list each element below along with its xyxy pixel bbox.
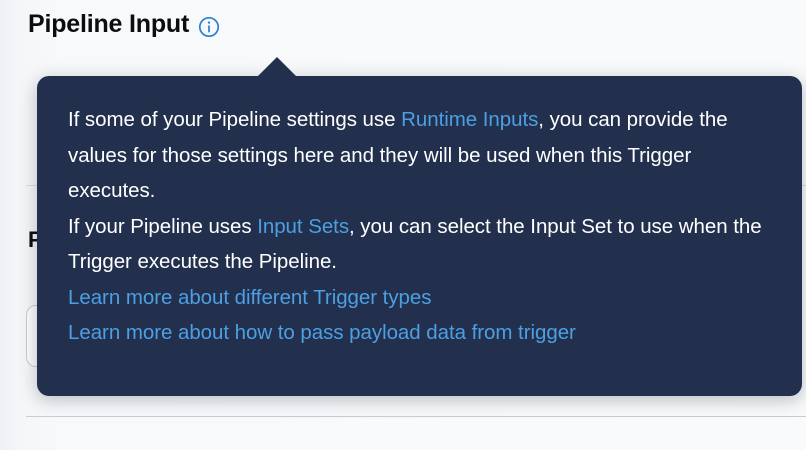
page-title-text: Pipeline Input (28, 10, 189, 39)
tooltip-paragraph-runtime-inputs: If some of your Pipeline settings use Ru… (68, 102, 772, 209)
learn-more-trigger-types-link[interactable]: Learn more about different Trigger types (68, 280, 772, 316)
footer-divider (26, 416, 806, 417)
learn-more-payload-data-link[interactable]: Learn more about how to pass payload dat… (68, 315, 772, 351)
tooltip-arrow-icon (257, 57, 297, 77)
runtime-inputs-link[interactable]: Runtime Inputs (401, 108, 538, 131)
pipeline-input-tooltip: If some of your Pipeline settings use Ru… (37, 76, 802, 396)
input-sets-link[interactable]: Input Sets (257, 215, 349, 238)
tooltip-paragraph-input-sets: If your Pipeline uses Input Sets, you ca… (68, 209, 772, 280)
info-circle-icon[interactable] (198, 16, 220, 38)
page-title: Pipeline Input (28, 10, 220, 39)
tooltip-paragraph2-part1: If your Pipeline uses (68, 215, 257, 238)
tooltip-paragraph1-part1: If some of your Pipeline settings use (68, 108, 401, 131)
page-background: Pipeline Input P If some of your Pipelin… (0, 0, 806, 450)
